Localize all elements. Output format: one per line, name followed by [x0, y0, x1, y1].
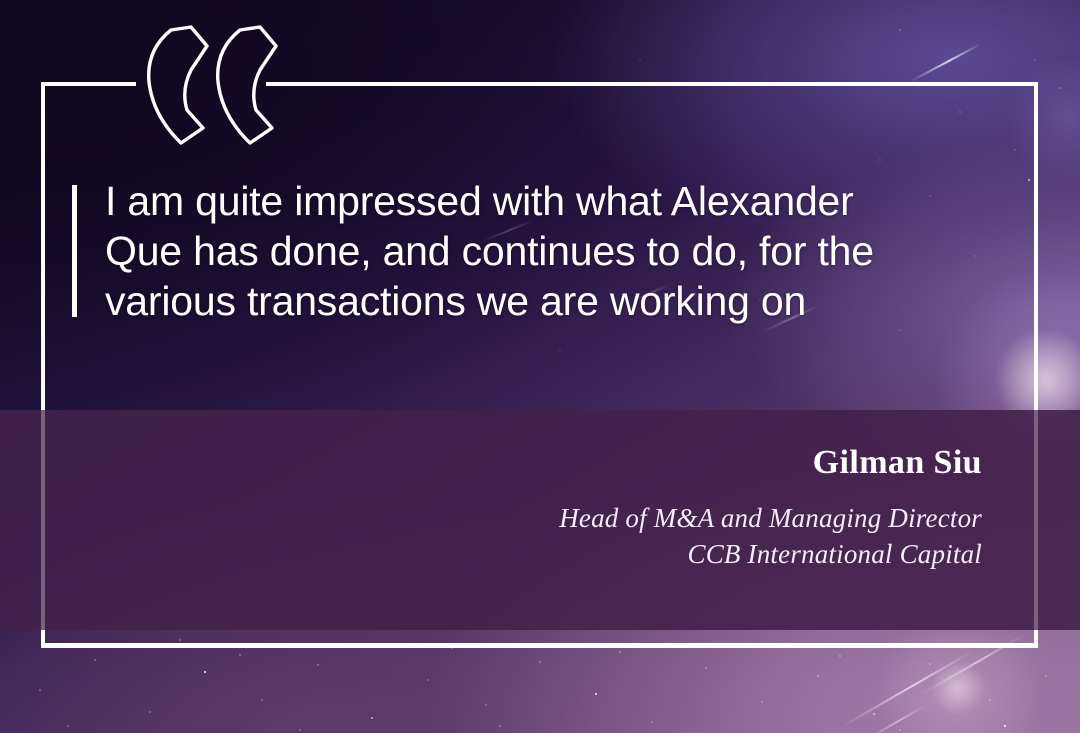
meteor-streak	[842, 651, 973, 727]
meteor-streak	[909, 43, 980, 82]
quote-line: various transactions we are working on	[105, 276, 874, 326]
frame-bottom-edge	[41, 643, 1038, 648]
author-role: Head of M&A and Managing Director	[559, 484, 982, 536]
meteor-streak	[920, 634, 1025, 695]
frame-top-left-segment	[41, 82, 136, 86]
author-company: CCB International Capital	[559, 536, 982, 572]
quote-line: I am quite impressed with what Alexander	[105, 176, 874, 226]
double-quotation-mark-icon	[143, 24, 283, 146]
frame-top-right-segment	[266, 82, 1038, 86]
quote-block: I am quite impressed with what Alexander…	[72, 176, 952, 326]
attribution-block: Gilman Siu Head of M&A and Managing Dire…	[559, 410, 982, 572]
attribution-band: Gilman Siu Head of M&A and Managing Dire…	[0, 410, 1080, 630]
testimonial-card: I am quite impressed with what Alexander…	[0, 0, 1080, 733]
author-name: Gilman Siu	[559, 410, 982, 484]
quote-line: Que has done, and continues to do, for t…	[105, 226, 874, 276]
quote-text: I am quite impressed with what Alexander…	[77, 176, 874, 326]
meteor-streak	[864, 705, 925, 733]
